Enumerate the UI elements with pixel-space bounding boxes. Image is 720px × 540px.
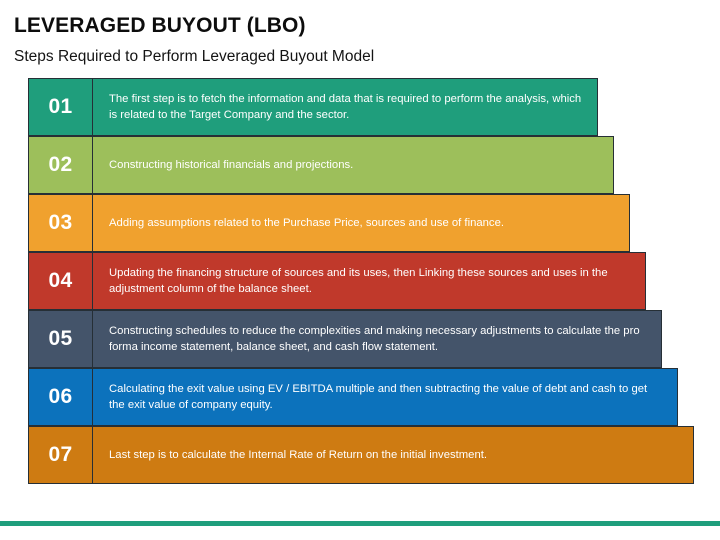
step-number: 03: [49, 211, 73, 235]
step-description: The first step is to fetch the informati…: [109, 91, 585, 123]
step-number-cell: 02: [29, 137, 93, 193]
step-number: 02: [49, 153, 73, 177]
step-text-cell: Constructing historical financials and p…: [93, 137, 613, 193]
step-text-cell: Calculating the exit value using EV / EB…: [93, 369, 677, 425]
step-number: 06: [49, 385, 73, 409]
step-description: Constructing schedules to reduce the com…: [109, 323, 649, 355]
step-text-cell: Constructing schedules to reduce the com…: [93, 311, 661, 367]
step-number: 07: [49, 443, 73, 467]
step-description: Updating the financing structure of sour…: [109, 265, 633, 297]
step-number-cell: 01: [29, 79, 93, 135]
step-description: Last step is to calculate the Internal R…: [109, 447, 487, 463]
step-row[interactable]: 06Calculating the exit value using EV / …: [28, 368, 678, 426]
step-text-cell: The first step is to fetch the informati…: [93, 79, 597, 135]
step-number-cell: 07: [29, 427, 93, 483]
step-row[interactable]: 03Adding assumptions related to the Purc…: [28, 194, 630, 252]
step-description: Adding assumptions related to the Purcha…: [109, 215, 504, 231]
step-text-cell: Last step is to calculate the Internal R…: [93, 427, 693, 483]
step-row[interactable]: 04Updating the financing structure of so…: [28, 252, 646, 310]
slide-canvas: LEVERAGED BUYOUT (LBO) Steps Required to…: [0, 0, 720, 540]
step-number-cell: 04: [29, 253, 93, 309]
page-subtitle: Steps Required to Perform Leveraged Buyo…: [14, 48, 374, 66]
step-description: Constructing historical financials and p…: [109, 157, 353, 173]
bottom-accent-strip: [0, 521, 720, 526]
step-number-cell: 05: [29, 311, 93, 367]
step-row[interactable]: 05Constructing schedules to reduce the c…: [28, 310, 662, 368]
step-text-cell: Updating the financing structure of sour…: [93, 253, 645, 309]
step-number-cell: 03: [29, 195, 93, 251]
step-description: Calculating the exit value using EV / EB…: [109, 381, 665, 413]
step-number-cell: 06: [29, 369, 93, 425]
step-number: 05: [49, 327, 73, 351]
step-number: 04: [49, 269, 73, 293]
step-number: 01: [49, 95, 73, 119]
step-row[interactable]: 02Constructing historical financials and…: [28, 136, 614, 194]
page-title: LEVERAGED BUYOUT (LBO): [14, 14, 306, 38]
step-text-cell: Adding assumptions related to the Purcha…: [93, 195, 629, 251]
step-row[interactable]: 01The first step is to fetch the informa…: [28, 78, 598, 136]
step-row[interactable]: 07Last step is to calculate the Internal…: [28, 426, 694, 484]
